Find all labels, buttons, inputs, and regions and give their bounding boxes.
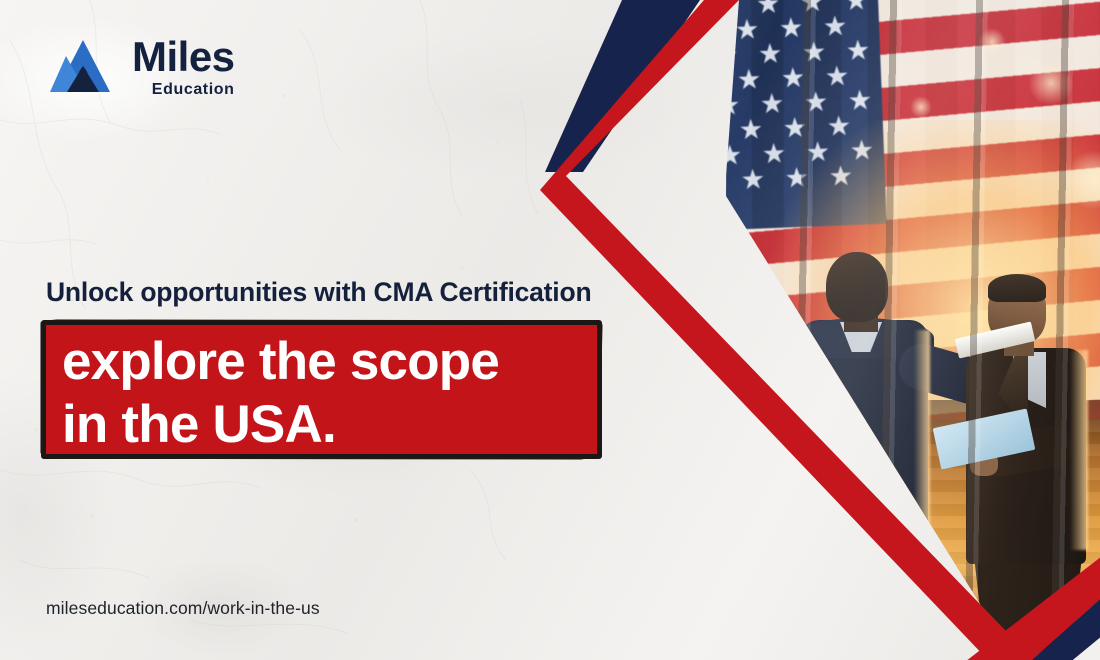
footer-url[interactable]: mileseducation.com/work-in-the-us (46, 598, 320, 619)
mountain-peaks-icon (50, 36, 120, 98)
brand-tagline: Education (152, 82, 235, 98)
brand-logo[interactable]: Miles Education (50, 36, 235, 98)
headline-line-1: explore the scope (62, 332, 499, 391)
headline-line-2: in the USA. (62, 393, 602, 456)
marketing-banner: Miles Education Unlock opportunities wit… (0, 0, 1100, 660)
brand-name: Miles (132, 36, 235, 78)
headline-main: explore the scope in the USA. (62, 330, 602, 456)
headline-eyebrow: Unlock opportunities with CMA Certificat… (46, 277, 591, 308)
